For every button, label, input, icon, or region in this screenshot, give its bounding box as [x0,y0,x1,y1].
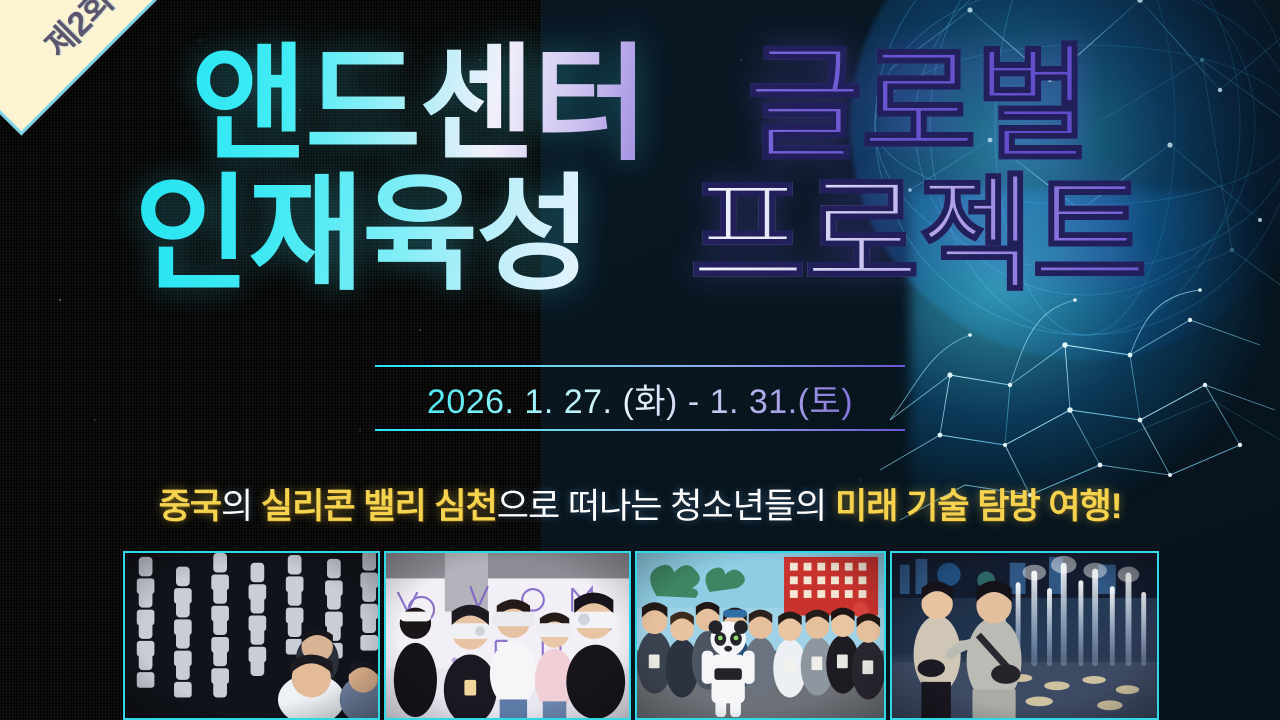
photo-vr-experience-image [386,553,629,718]
title-line-1-part-1: 앤드센터 [191,40,647,170]
title-line-2-part-1: 인재육성 [134,170,590,300]
title-line-1-part-2: 글로벌 [747,40,1089,170]
date-rule-bottom [375,429,905,431]
title-line-2: 인재육성 프로젝트 [0,170,1280,300]
photo-vr-experience: VR 헤드셋 체험 중인 학생들 [384,551,631,720]
tagline-segment-4: 으로 떠나는 청소년들의 [497,487,835,526]
tagline: 중국의 실리콘 밸리 심천으로 떠나는 청소년들의 미래 기술 탐방 여행! [0,478,1280,529]
title-line-1: 앤드센터 글로벌 [0,40,1280,170]
photo-robot-wall: 로봇 전시 벽면을 관람하는 학생들 [123,551,380,720]
photo-panda-robot-group: 판다 휴머노이드 로봇과 단체 사진 [635,551,886,720]
tagline-segment-1: 중국 [159,487,221,526]
tagline-segment-3: 실리콘 밸리 심천 [261,487,497,526]
photo-robot-wall-image [125,553,378,718]
photo-night-fountain: 야간 분수 광장의 학생들 [890,551,1159,720]
photo-night-fountain-image [892,553,1157,718]
photo-panda-robot-group-image [637,553,884,718]
event-date: 2026. 1. 27. (화) - 1. 31.(토) [375,367,905,429]
photo-strip: 로봇 전시 벽면을 관람하는 학생들 [123,551,1159,720]
tagline-segment-5: 미래 기술 탐방 여행! [835,487,1121,526]
date-block: 2026. 1. 27. (화) - 1. 31.(토) [375,365,905,431]
title-block: 앤드센터 글로벌 인재육성 프로젝트 [0,40,1280,300]
tagline-segment-2: 의 [221,487,261,526]
promo-banner: 제2회 앤드센터 글로벌 인재육성 프로젝트 2026. 1. 27. (화) … [0,0,1280,720]
title-line-2-part-2: 프로젝트 [690,170,1146,300]
